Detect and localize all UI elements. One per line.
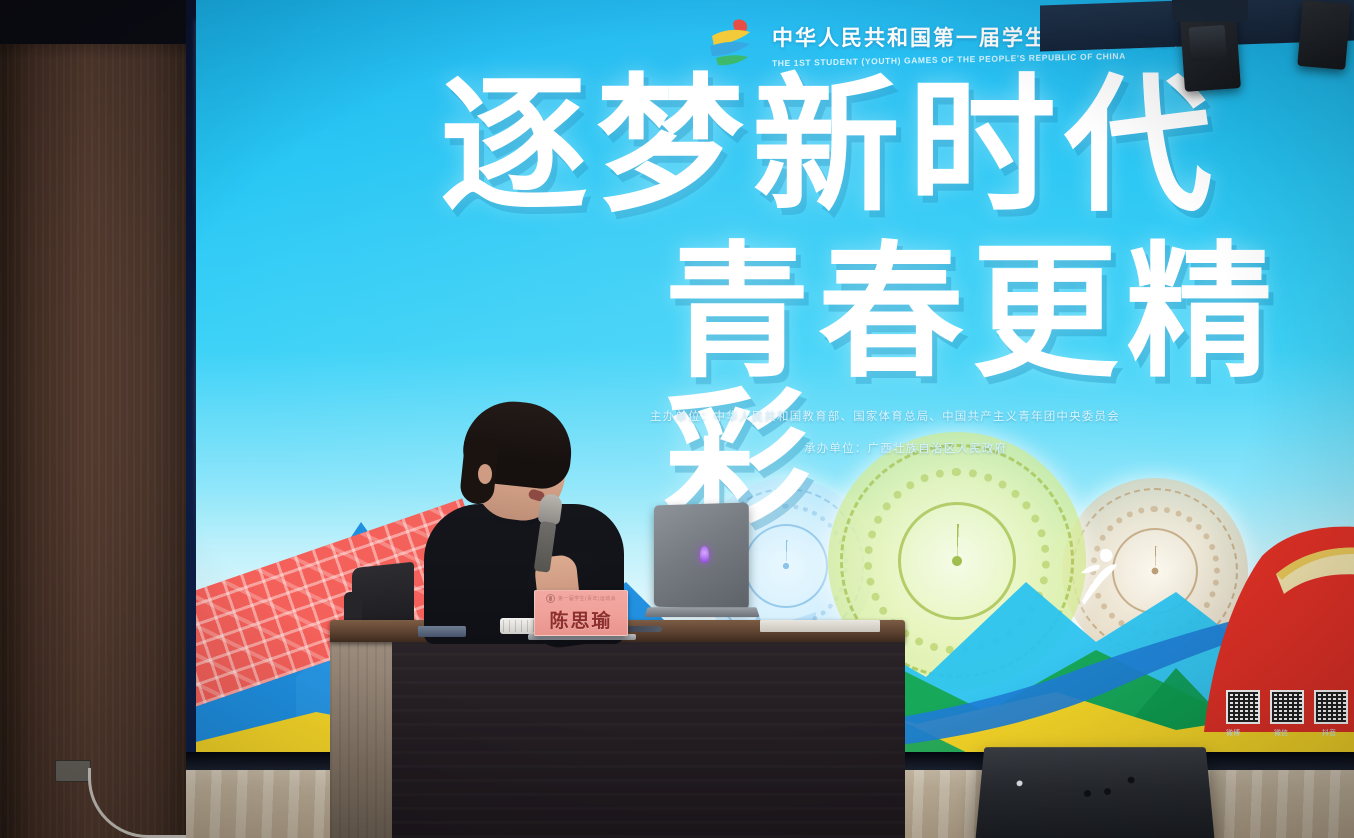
laptop-base — [644, 607, 759, 617]
stage-floor-monitor — [975, 747, 1214, 838]
phone-on-desk[interactable] — [418, 626, 466, 637]
name-card-logo: 第一届学生(青年)运动会 — [546, 594, 616, 603]
monitor-hole-3 — [1128, 777, 1135, 784]
name-card-name: 陈思瑜 — [549, 606, 612, 633]
podium-desk — [330, 620, 905, 838]
laptop-logo-icon — [700, 546, 709, 563]
qr-code-3-label: 抖音 — [1310, 728, 1348, 738]
desk-side-panel — [330, 636, 394, 838]
speaker-ear — [478, 464, 492, 484]
slogan-line-2: 青春更精彩 — [664, 240, 1354, 532]
host-line: 承办单位：广西壮族自治区人民政府 — [804, 440, 1007, 456]
papers-on-desk[interactable] — [760, 620, 880, 632]
qr-code-2-image — [1272, 692, 1302, 722]
name-card-org: 第一届学生(青年)运动会 — [558, 595, 616, 602]
slogan-line-1: 逐梦新时代 — [440, 72, 1220, 220]
desk-front-panel — [392, 642, 905, 838]
wood-wall-panel — [0, 0, 196, 838]
qr-code-2-label: 微信 — [1262, 728, 1300, 738]
qr-code-1[interactable] — [1226, 690, 1260, 724]
organizer-line: 主办单位：中华人民共和国教育部、国家体育总局、中国共产主义青年团中央委员会 — [650, 408, 1120, 424]
name-card-emblem-icon — [546, 594, 555, 603]
qr-code-3[interactable] — [1314, 690, 1348, 724]
name-card: 第一届学生(青年)运动会 陈思瑜 — [534, 590, 628, 636]
moving-head-light-2 — [1297, 0, 1351, 70]
microphone-head — [537, 493, 563, 526]
qr-code-labels: 微博 微信 抖音 — [1214, 728, 1348, 738]
monitor-hole-1 — [1084, 790, 1091, 797]
laptop-lid — [654, 502, 749, 609]
qr-code-group — [1226, 690, 1348, 724]
screenshot-root: 微博 微信 抖音 中华人民共和国第一届学生(青年)运动会 THE 1ST STU… — [0, 0, 1354, 838]
laptop[interactable] — [646, 504, 754, 626]
monitor-indicator — [1016, 780, 1022, 786]
qr-code-1-image — [1228, 692, 1258, 722]
qr-code-2[interactable] — [1270, 690, 1304, 724]
monitor-hole-2 — [1104, 788, 1111, 795]
qr-code-3-image — [1316, 692, 1346, 722]
wall-outlet — [55, 760, 91, 782]
microphone-body — [534, 521, 557, 573]
qr-code-1-label: 微博 — [1214, 728, 1252, 738]
light-yoke — [1172, 0, 1248, 22]
